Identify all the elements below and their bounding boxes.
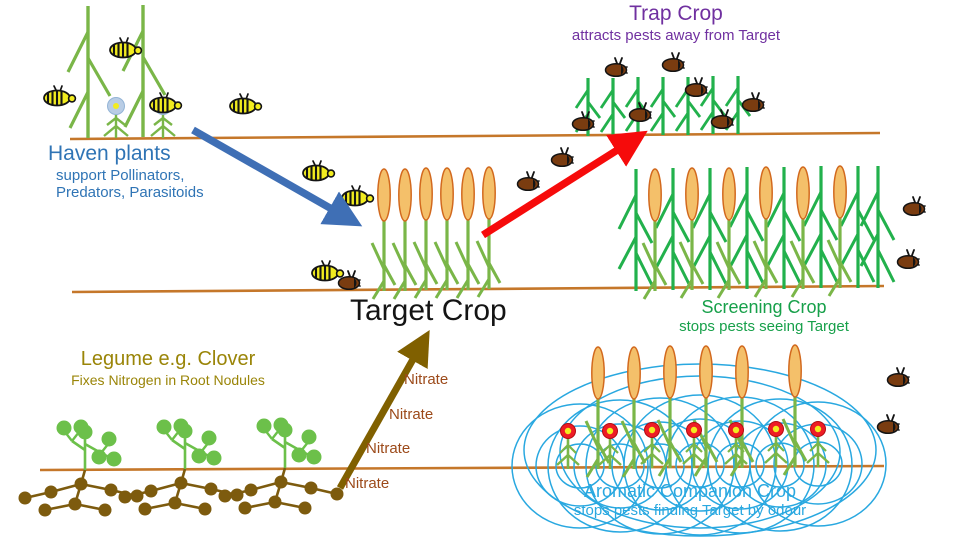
pest-beetle (878, 415, 900, 433)
nitrate-label: Nitrate (345, 475, 389, 492)
pollinator-bee (150, 93, 181, 113)
diagram-canvas: Haven plants support Pollinators, Predat… (0, 0, 960, 540)
pest-beetle (663, 53, 685, 71)
screening-crop-group (619, 166, 894, 299)
screening-crop-label: Screening Crop stops pests seeing Target (664, 297, 864, 336)
trap-title: Trap Crop (546, 2, 806, 27)
target-wheat-plant (372, 169, 395, 299)
target-wheat-plant (456, 168, 479, 298)
clover-plant-top (257, 418, 322, 469)
aromatic-title: Aromatic Companion Crop (560, 481, 820, 502)
nitrate-label: Nitrate (404, 371, 448, 388)
pest-beetle (904, 197, 926, 215)
pest-beetle (552, 148, 574, 166)
clover-plant-top (57, 420, 122, 471)
aromatic-crop-label: Aromatic Companion Crop stops pests find… (560, 481, 820, 520)
pest-beetle (606, 58, 628, 76)
legume-clover-group (19, 418, 344, 517)
pollinator-bee (312, 261, 343, 281)
haven-ground-line (70, 133, 880, 139)
pest-beetle (898, 250, 920, 268)
screening-subtitle: stops pests seeing Target (664, 318, 864, 336)
diagram-artwork (0, 0, 960, 540)
pest-beetle (573, 112, 595, 130)
pest-beetle (518, 172, 540, 190)
aromatic-wheat-plant (622, 347, 645, 477)
haven-subtitle-line1: support Pollinators, (48, 167, 204, 185)
pest-beetle (712, 110, 734, 128)
trap-crop-label: Trap Crop attracts pests away from Targe… (546, 2, 806, 44)
target-wheat-plant (414, 168, 437, 298)
pollinator-bee (303, 161, 334, 181)
target-crop-group (372, 167, 500, 299)
legume-label: Legume e.g. Clover Fixes Nitrogen in Roo… (58, 348, 278, 388)
pollinator-bee (342, 186, 373, 206)
trap-crop-group (573, 53, 765, 136)
haven-subtitle-line2: Predators, Parasitoids (48, 184, 204, 202)
legume-ground-line (40, 466, 884, 470)
legume-title: Legume e.g. Clover (58, 348, 278, 372)
legume-subtitle: Fixes Nitrogen in Root Nodules (58, 372, 278, 389)
clover-plant-top (157, 419, 222, 470)
target-crop-label: Target Crop (350, 293, 507, 328)
pollinator-bee (230, 94, 261, 114)
haven-title: Haven plants (48, 142, 204, 167)
aromatic-flower-plant (765, 422, 787, 468)
haven-plant-group (68, 5, 175, 138)
haven-plants-label: Haven plants support Pollinators, Predat… (48, 142, 204, 202)
target-wheat-plant (393, 169, 416, 299)
target-wheat-plant (435, 168, 458, 298)
haven-flower (104, 98, 128, 139)
aromatic-subtitle: stops pests finding Target by odour (560, 502, 820, 520)
pest-beetle (630, 103, 652, 121)
trap-subtitle: attracts pests away from Target (546, 27, 806, 45)
pest-beetle (743, 93, 765, 111)
nitrate-label: Nitrate (366, 440, 410, 457)
nitrate-label: Nitrate (389, 406, 433, 423)
screening-title: Screening Crop (664, 297, 864, 318)
pest-beetle (888, 368, 910, 386)
pollinator-bee (44, 86, 75, 106)
